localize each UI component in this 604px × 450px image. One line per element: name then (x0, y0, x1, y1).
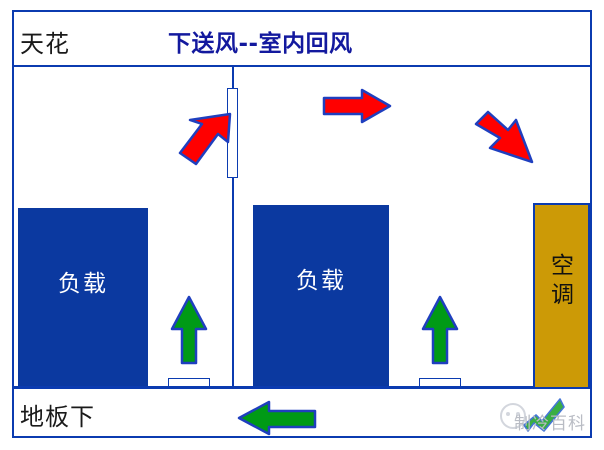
watermark: 制冷百科 (498, 395, 598, 441)
load-block-1: 负载 (18, 208, 148, 386)
ceiling-divider-line (12, 65, 592, 67)
floor-grille-2 (419, 378, 461, 387)
load-block-2: 负载 (253, 205, 389, 386)
floor-grille-1 (168, 378, 210, 387)
watermark-text: 制冷百科 (514, 409, 586, 434)
return-air-arrow-up-left-icon (178, 112, 236, 168)
underfloor-supply-air-arrow-left-icon (237, 400, 317, 436)
return-air-arrow-down-right-icon (474, 110, 536, 166)
air-conditioner-block: 空调 (533, 203, 590, 387)
load-block-1-label: 负载 (18, 264, 148, 298)
supply-air-arrow-up-1-icon (170, 295, 208, 365)
diagram-canvas: 天花 地板下 下送风--室内回风 负载 负载 空调 (0, 0, 604, 450)
underfloor-label: 地板下 (20, 397, 95, 432)
floor-divider-line (12, 386, 592, 389)
air-conditioner-label: 空调 (549, 253, 575, 311)
load-block-2-label: 负载 (253, 261, 389, 295)
ceiling-label: 天花 (20, 24, 70, 59)
diagram-title: 下送风--室内回风 (168, 24, 353, 58)
supply-air-arrow-up-2-icon (421, 295, 459, 365)
return-air-arrow-right-icon (322, 88, 392, 124)
